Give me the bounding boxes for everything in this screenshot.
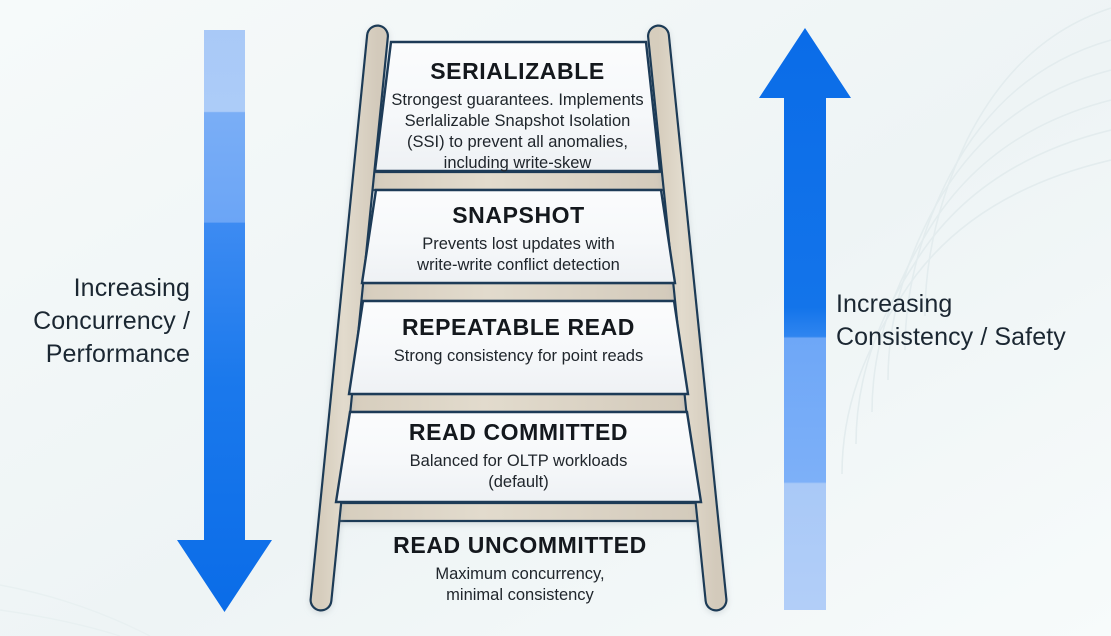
right-arrow-caption: Increasing Consistency / Safety — [836, 288, 1106, 354]
left-arrow-caption: Increasing Concurrency / Performance — [0, 272, 190, 371]
desc-line: including write-skew — [375, 153, 660, 174]
desc-line: Prevents lost updates with — [362, 234, 675, 255]
right-caption-line-2: Consistency / Safety — [836, 321, 1106, 354]
diagram-canvas: Increasing Concurrency / Performance Inc… — [0, 0, 1111, 636]
desc-line: (SSI) to prevent all anomalies, — [375, 132, 660, 153]
desc-line: write-write conflict detection — [362, 255, 675, 276]
rung-repeatable-read-desc: Strong consistency for point reads — [349, 346, 688, 367]
left-caption-line-2: Concurrency / — [0, 305, 190, 338]
rung-read-committed-desc: Balanced for OLTP workloads (default) — [336, 451, 701, 493]
rung-serializable-title: SERIALIZABLE — [375, 58, 660, 85]
desc-line: minimal consistency — [325, 585, 715, 606]
right-caption-line-1: Increasing — [836, 288, 1106, 321]
rung-repeatable-read-title: REPEATABLE READ — [349, 314, 688, 341]
left-caption-line-1: Increasing — [0, 272, 190, 305]
rung-serializable-desc: Strongest guarantees. Implements Serlali… — [375, 90, 660, 174]
desc-line: (default) — [336, 472, 701, 493]
desc-line: Serlalizable Snapshot Isolation — [375, 111, 660, 132]
left-caption-line-3: Performance — [0, 338, 190, 371]
rung-read-committed: READ COMMITTED Balanced for OLTP workloa… — [336, 419, 701, 493]
rung-snapshot-desc: Prevents lost updates with write-write c… — [362, 234, 675, 276]
rung-snapshot: SNAPSHOT Prevents lost updates with writ… — [362, 202, 675, 276]
desc-line: Maximum concurrency, — [325, 564, 715, 585]
rung-snapshot-title: SNAPSHOT — [362, 202, 675, 229]
rung-bar-2 — [359, 283, 678, 301]
rung-repeatable-read: REPEATABLE READ Strong consistency for p… — [349, 314, 688, 367]
rung-bar-3 — [346, 394, 692, 412]
desc-line: Balanced for OLTP workloads — [336, 451, 701, 472]
desc-line: Strongest guarantees. Implements — [375, 90, 660, 111]
rung-bar-1 — [371, 172, 664, 190]
rung-read-committed-title: READ COMMITTED — [336, 419, 701, 446]
rung-serializable: SERIALIZABLE Strongest guarantees. Imple… — [375, 58, 660, 174]
rung-bar-4 — [333, 503, 706, 521]
desc-line: Strong consistency for point reads — [349, 346, 688, 367]
rung-read-uncommitted-desc: Maximum concurrency, minimal consistency — [325, 564, 715, 606]
rung-read-uncommitted-title: READ UNCOMMITTED — [325, 532, 715, 559]
left-arrow-shape — [177, 30, 272, 612]
rung-read-uncommitted: READ UNCOMMITTED Maximum concurrency, mi… — [325, 532, 715, 606]
